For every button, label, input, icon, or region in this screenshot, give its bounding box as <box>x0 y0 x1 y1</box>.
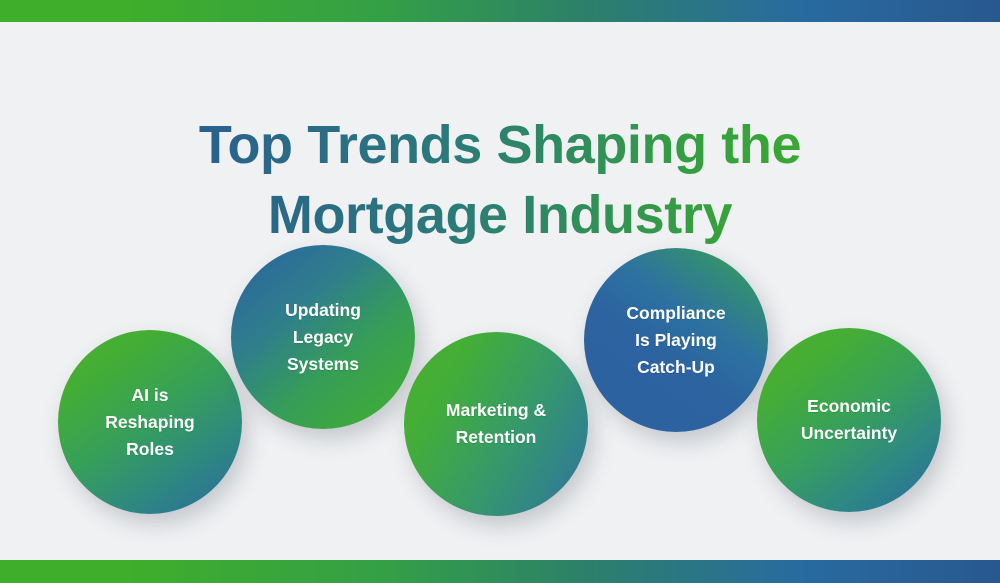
trend-bubble-compliance-is-playing-catch-up[interactable]: Compliance Is Playing Catch-Up <box>584 248 768 432</box>
trend-bubble-label: AI is Reshaping Roles <box>91 382 208 463</box>
trend-bubble-label: Updating Legacy Systems <box>271 297 375 378</box>
trend-bubble-marketing-and-retention[interactable]: Marketing & Retention <box>404 332 588 516</box>
bottom-accent-bar <box>0 560 1000 583</box>
trend-bubble-ai-is-reshaping-roles[interactable]: AI is Reshaping Roles <box>58 330 242 514</box>
page-title-line-1: Top Trends Shaping the <box>0 110 1000 180</box>
infographic-canvas: Top Trends Shaping the Mortgage Industry… <box>0 0 1000 583</box>
trend-bubble-label: Economic Uncertainty <box>787 393 911 447</box>
trend-bubble-label: Marketing & Retention <box>432 397 560 451</box>
trend-bubble-updating-legacy-systems[interactable]: Updating Legacy Systems <box>231 245 415 429</box>
page-title: Top Trends Shaping the Mortgage Industry <box>0 110 1000 250</box>
trend-bubble-economic-uncertainty[interactable]: Economic Uncertainty <box>757 328 941 512</box>
top-accent-bar <box>0 0 1000 22</box>
trend-bubble-label: Compliance Is Playing Catch-Up <box>612 300 739 381</box>
page-title-line-2: Mortgage Industry <box>0 180 1000 250</box>
